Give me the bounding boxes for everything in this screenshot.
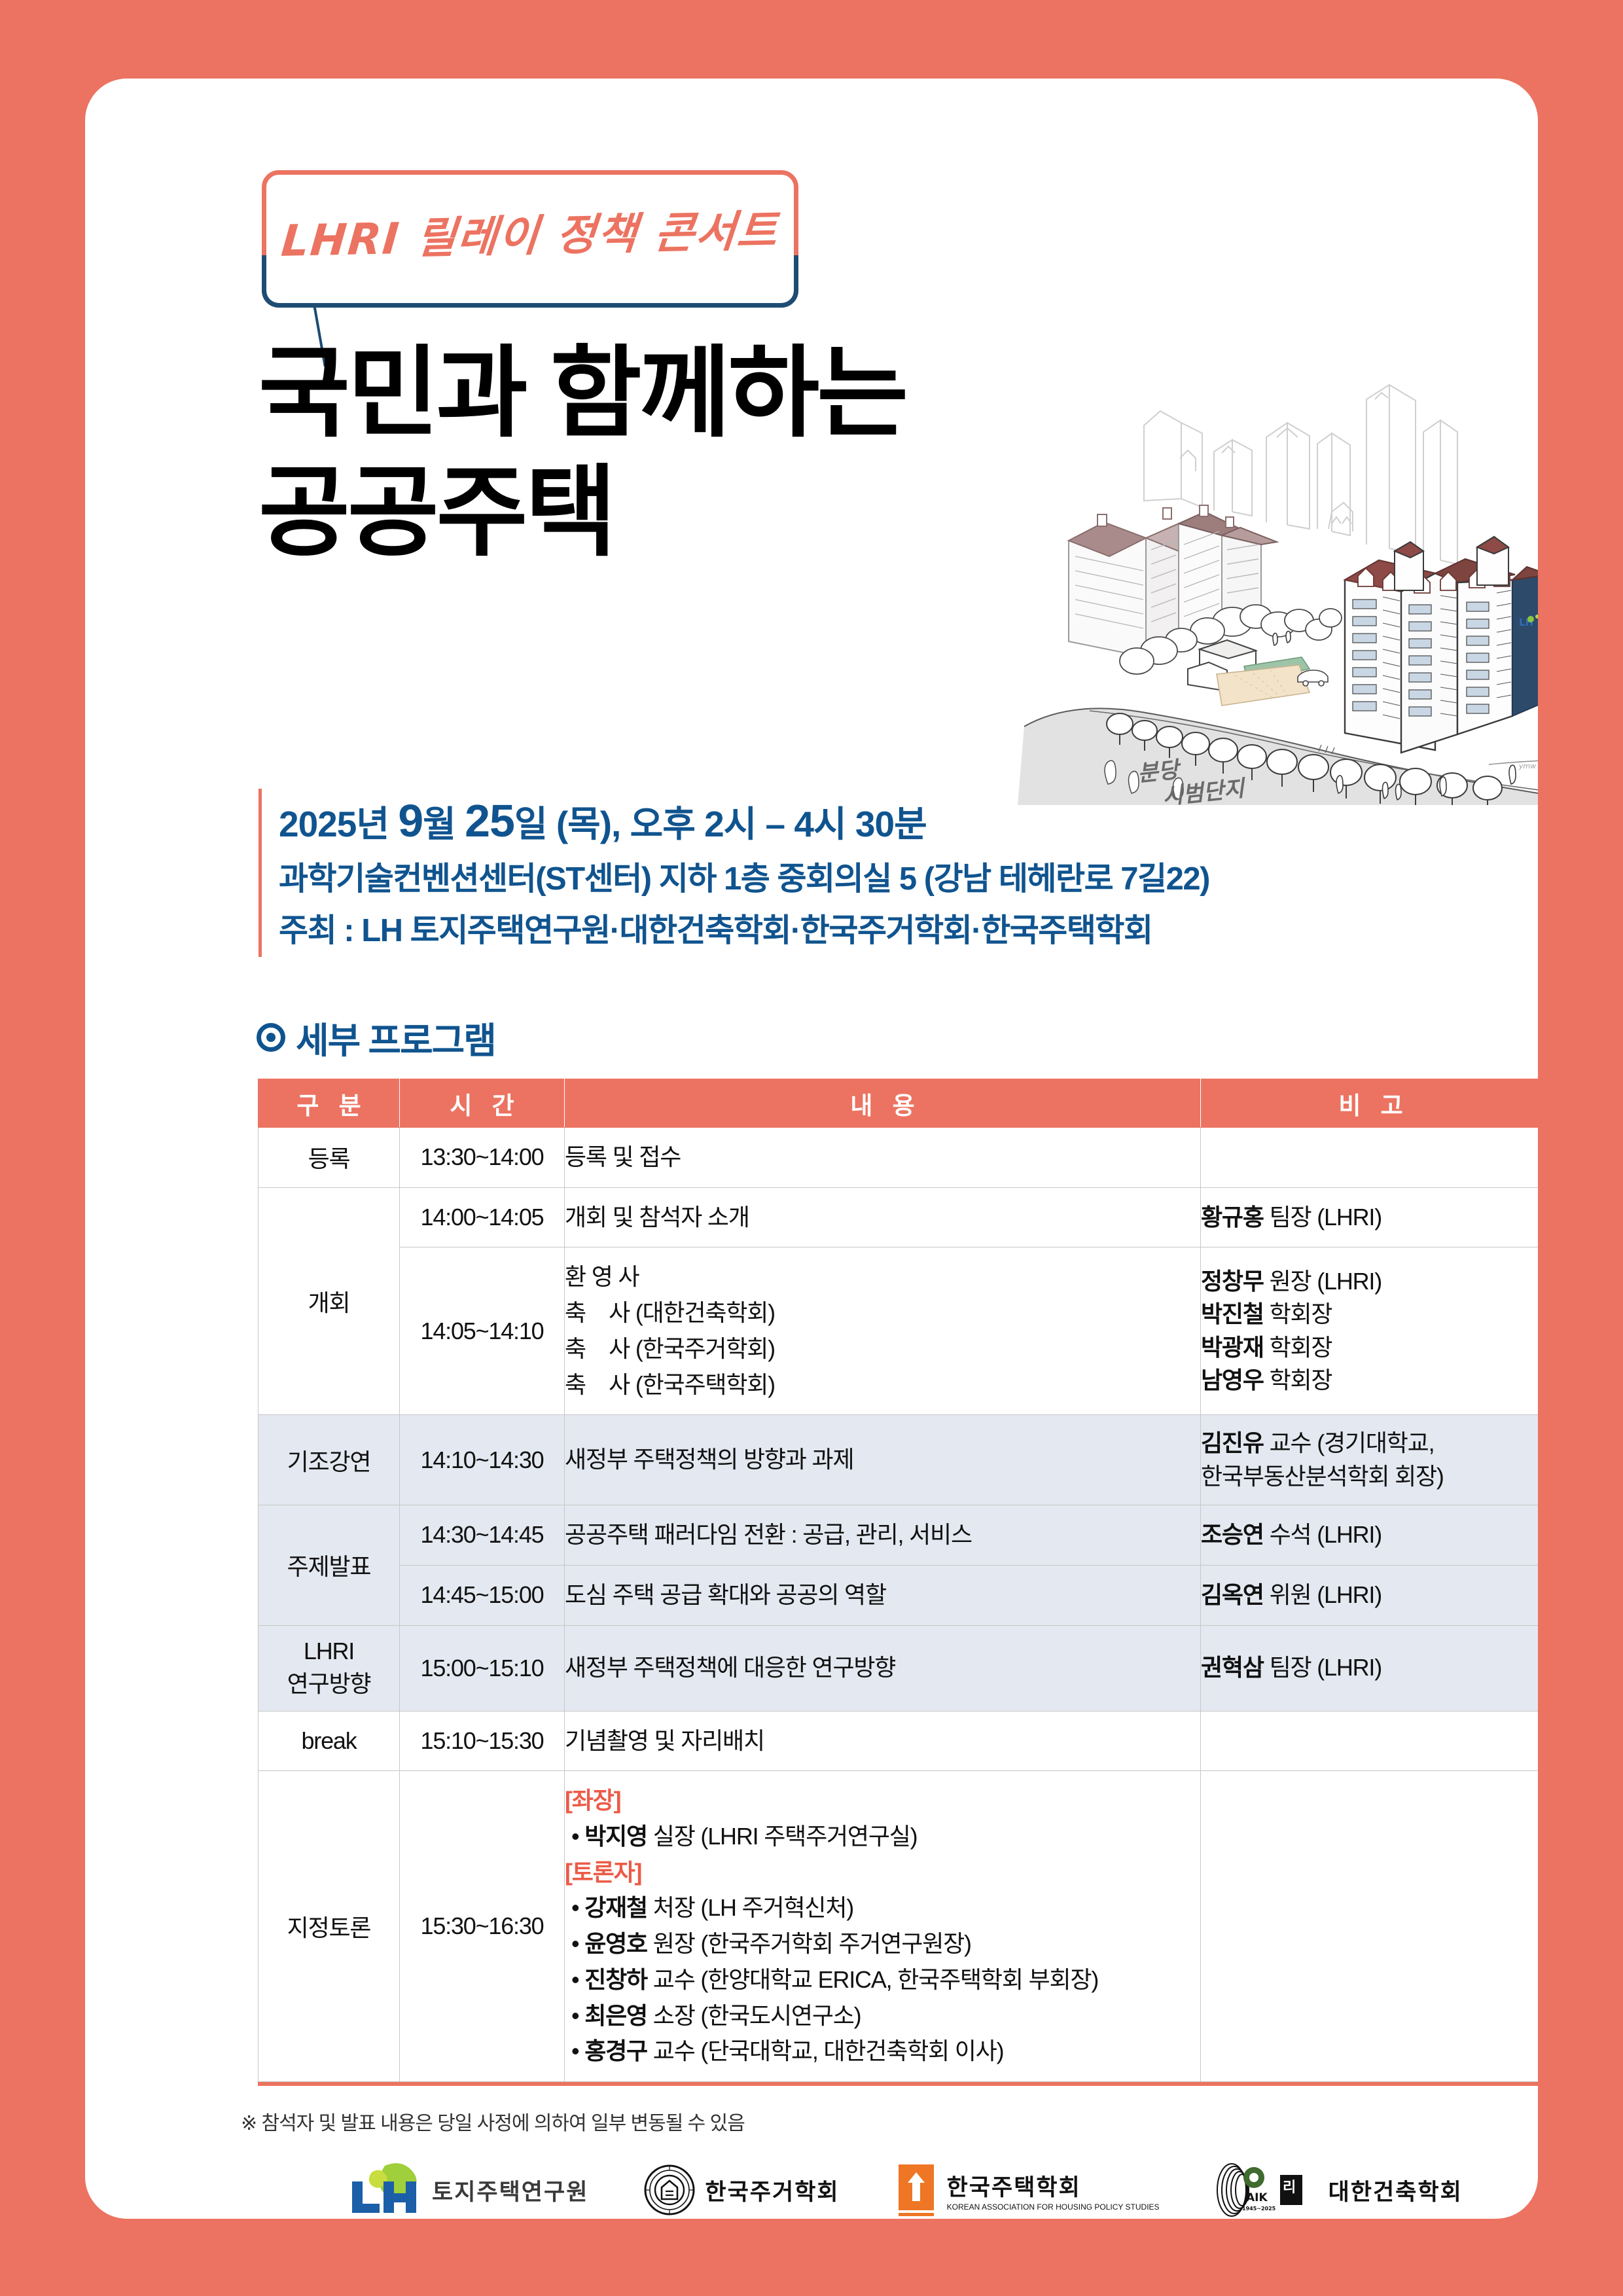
- program-heading: 세부 프로그램: [257, 1011, 495, 1064]
- logo-kahps-label: 한국주택학회 KOREAN ASSOCIATION FOR HOUSING PO…: [947, 2169, 1160, 2212]
- content-bullet: • 진창하 교수 (한양대학교 ERICA, 한국주택학회 부회장): [565, 1962, 1200, 1998]
- cell-content: 환 영 사축 사 (대한건축학회)축 사 (한국주거학회)축 사 (한국주택학회…: [565, 1247, 1201, 1415]
- cell-time: 15:30~16:30: [400, 1771, 565, 2082]
- content-bullet: • 홍경구 교수 (단국대학교, 대한건축학회 이사): [565, 2034, 1200, 2070]
- event-hosts: 주최 : LH 토지주택연구원·대한건축학회·한국주거학회·한국주택학회: [279, 905, 1538, 957]
- event-venue: 과학기술컨벤션센터(ST센터) 지하 1층 중회의실 5 (강남 테헤란로 7길…: [279, 853, 1538, 905]
- note-line: 김진유 교수 (경기대학교,: [1201, 1427, 1538, 1460]
- note-person: 권혁삼: [1201, 1654, 1264, 1681]
- date-prefix: 2025년: [279, 804, 398, 844]
- cell-note: 김진유 교수 (경기대학교,한국부동산분석학회 회장): [1201, 1415, 1539, 1505]
- note-role: 팀장 (LHRI): [1264, 1204, 1382, 1230]
- date-rest: 일 (목), 오후 2시 – 4시 30분: [514, 804, 927, 844]
- logo-lh-label: 토지주택연구원: [432, 2174, 588, 2207]
- cell-time: 14:10~14:30: [400, 1415, 565, 1505]
- cell-category: LHRI 연구방향: [259, 1625, 400, 1711]
- table-row: 개회14:00~14:05개회 및 참석자 소개황규홍 팀장 (LHRI): [259, 1187, 1539, 1247]
- date-month: 9: [398, 795, 423, 846]
- table-row: 기조강연14:10~14:30새정부 주택정책의 방향과 과제김진유 교수 (경…: [259, 1415, 1539, 1505]
- content-group-label: [토론자]: [565, 1855, 1200, 1891]
- cell-note: [1201, 1771, 1539, 2082]
- note-role: 수석 (LHRI): [1264, 1521, 1382, 1548]
- content-bullet: • 최은영 소장 (한국도시연구소): [565, 1998, 1200, 2034]
- table-bottom-rule: [258, 2082, 1538, 2086]
- cell-category: 지정토론: [259, 1771, 400, 2082]
- cell-content: [좌장]• 박지영 실장 (LHRI 주택주거연구실)[토론자]• 강재철 처장…: [565, 1771, 1201, 2082]
- table-row: 지정토론15:30~16:30[좌장]• 박지영 실장 (LHRI 주택주거연구…: [259, 1771, 1539, 2082]
- khra-seal-icon: [643, 2164, 696, 2216]
- cell-content: 공공주택 패러다임 전환 : 공급, 관리, 서비스: [565, 1505, 1201, 1566]
- table-row: 14:05~14:10환 영 사축 사 (대한건축학회)축 사 (한국주거학회)…: [259, 1247, 1539, 1415]
- cell-time: 14:30~14:45: [400, 1505, 565, 1566]
- cell-content: 개회 및 참석자 소개: [565, 1187, 1201, 1247]
- cityscape-illustration: LH: [991, 360, 1538, 805]
- cell-time: 15:00~15:10: [400, 1625, 565, 1711]
- program-heading-label: 세부 프로그램: [296, 1011, 495, 1064]
- table-row: break15:10~15:30기념촬영 및 자리배치: [259, 1711, 1539, 1771]
- organizer-logos: 토지주택연구원 한국주거학회 한국주택학회: [347, 2161, 1499, 2219]
- table-row: LHRI 연구방향15:00~15:10새정부 주택정책에 대응한 연구방향권혁…: [259, 1625, 1539, 1711]
- logo-lh: 토지주택연구원: [347, 2162, 588, 2218]
- cell-time: 14:00~14:05: [400, 1187, 565, 1247]
- cell-category: break: [259, 1711, 400, 1771]
- cell-note: 황규홍 팀장 (LHRI): [1201, 1187, 1539, 1247]
- cell-time: 13:30~14:00: [400, 1128, 565, 1188]
- date-month-unit: 월: [423, 804, 465, 844]
- cell-note: [1201, 1711, 1539, 1771]
- event-date: 2025년 9월 25일 (목), 오후 2시 – 4시 30분: [279, 789, 1538, 853]
- content-line: 환 영 사: [565, 1259, 1200, 1295]
- note-role: 위원 (LHRI): [1264, 1581, 1382, 1608]
- cell-content: 도심 주택 공급 확대와 공공의 역할: [565, 1565, 1201, 1625]
- note-person: 황규홍: [1201, 1204, 1264, 1230]
- note-line: 박진철 학회장: [1201, 1298, 1538, 1331]
- svg-text:리: 리: [1283, 2179, 1296, 2196]
- cell-category: 개회: [259, 1187, 400, 1415]
- svg-text:1945~2025: 1945~2025: [1242, 2206, 1276, 2212]
- logo-aik-label: 대한건축학회: [1329, 2174, 1463, 2207]
- col-header-category: 구 분: [259, 1079, 400, 1128]
- target-icon: [257, 1023, 285, 1052]
- poster-card: LHRI 릴레이 정책 콘서트 국민과 함께하는 공공주택: [85, 79, 1538, 2219]
- note-line: 한국부동산분석학회 회장): [1201, 1460, 1538, 1493]
- logo-khra-label: 한국주거학회: [705, 2174, 839, 2207]
- program-table: 구 분 시 간 내 용 비 고 등록13:30~14:00등록 및 접수개회14…: [258, 1079, 1538, 2082]
- cell-time: 14:45~15:00: [400, 1565, 565, 1625]
- logo-khra: 한국주거학회: [643, 2164, 839, 2216]
- event-info: 2025년 9월 25일 (목), 오후 2시 – 4시 30분 과학기술컨벤션…: [259, 789, 1538, 957]
- event-series-badge: LHRI 릴레이 정책 콘서트: [262, 170, 798, 308]
- svg-text:ymw: ymw: [1518, 762, 1536, 770]
- kahps-book-icon: [895, 2162, 938, 2218]
- content-line: 축 사 (한국주거학회): [565, 1331, 1200, 1367]
- aik-80th-icon: AIK 1945~2025 리: [1215, 2161, 1319, 2219]
- note-person: 김옥연: [1201, 1581, 1264, 1608]
- col-header-content: 내 용: [565, 1079, 1201, 1128]
- col-header-note: 비 고: [1201, 1079, 1539, 1128]
- content-line: 축 사 (대한건축학회): [565, 1295, 1200, 1331]
- cell-note: 정창무 원장 (LHRI)박진철 학회장박광재 학회장남영우 학회장: [1201, 1247, 1539, 1415]
- cell-content: 새정부 주택정책의 방향과 과제: [565, 1415, 1201, 1505]
- table-header-row: 구 분 시 간 내 용 비 고: [259, 1079, 1539, 1128]
- cell-content: 등록 및 접수: [565, 1128, 1201, 1188]
- content-bullet: • 박지영 실장 (LHRI 주택주거연구실): [565, 1819, 1200, 1855]
- cell-content: 기념촬영 및 자리배치: [565, 1711, 1201, 1771]
- cell-category: 주제발표: [259, 1505, 400, 1625]
- lh-mark-icon: [347, 2162, 423, 2218]
- logo-aik: AIK 1945~2025 리 대한건축학회: [1215, 2161, 1463, 2219]
- content-line: 축 사 (한국주택학회): [565, 1367, 1200, 1403]
- svg-text:AIK: AIK: [1246, 2191, 1268, 2204]
- table-row: 주제발표14:30~14:45공공주택 패러다임 전환 : 공급, 관리, 서비…: [259, 1505, 1539, 1566]
- note-line: 남영우 학회장: [1201, 1364, 1538, 1397]
- title-line-2: 공공주택: [259, 453, 1077, 572]
- date-day: 25: [465, 795, 514, 846]
- footnote: ※ 참석자 및 발표 내용은 당일 사정에 의하여 일부 변동될 수 있음: [241, 2107, 1524, 2136]
- table-row: 14:45~15:00도심 주택 공급 확대와 공공의 역할김옥연 위원 (LH…: [259, 1565, 1539, 1625]
- cell-category: 기조강연: [259, 1415, 400, 1505]
- cell-time: 15:10~15:30: [400, 1711, 565, 1771]
- col-header-time: 시 간: [400, 1079, 565, 1128]
- cell-note: 조승연 수석 (LHRI): [1201, 1505, 1539, 1566]
- table-row: 등록13:30~14:00등록 및 접수: [259, 1128, 1539, 1188]
- page-title: 국민과 함께하는 공공주택: [259, 334, 1077, 573]
- cell-note: 권혁삼 팀장 (LHRI): [1201, 1625, 1539, 1711]
- note-line: 정창무 원장 (LHRI): [1201, 1265, 1538, 1298]
- content-group-label: [좌장]: [565, 1783, 1200, 1819]
- logo-kahps: 한국주택학회 KOREAN ASSOCIATION FOR HOUSING PO…: [895, 2162, 1160, 2218]
- cell-content: 새정부 주택정책에 대응한 연구방향: [565, 1625, 1201, 1711]
- cell-note: [1201, 1128, 1539, 1188]
- logo-kahps-subtitle: KOREAN ASSOCIATION FOR HOUSING POLICY ST…: [947, 2202, 1160, 2212]
- cell-category: 등록: [259, 1128, 400, 1188]
- content-bullet: • 강재철 처장 (LH 주거혁신처): [565, 1890, 1200, 1926]
- title-line-1: 국민과 함께하는: [259, 334, 1077, 453]
- cell-time: 14:05~14:10: [400, 1247, 565, 1415]
- cell-note: 김옥연 위원 (LHRI): [1201, 1565, 1539, 1625]
- content-bullet: • 윤영호 원장 (한국주거학회 주거연구원장): [565, 1926, 1200, 1962]
- logo-kahps-title: 한국주택학회: [947, 2175, 1081, 2200]
- note-line: 박광재 학회장: [1201, 1331, 1538, 1364]
- note-person: 조승연: [1201, 1521, 1264, 1548]
- note-role: 팀장 (LHRI): [1264, 1654, 1382, 1681]
- badge-label: LHRI 릴레이 정책 콘서트: [256, 164, 804, 300]
